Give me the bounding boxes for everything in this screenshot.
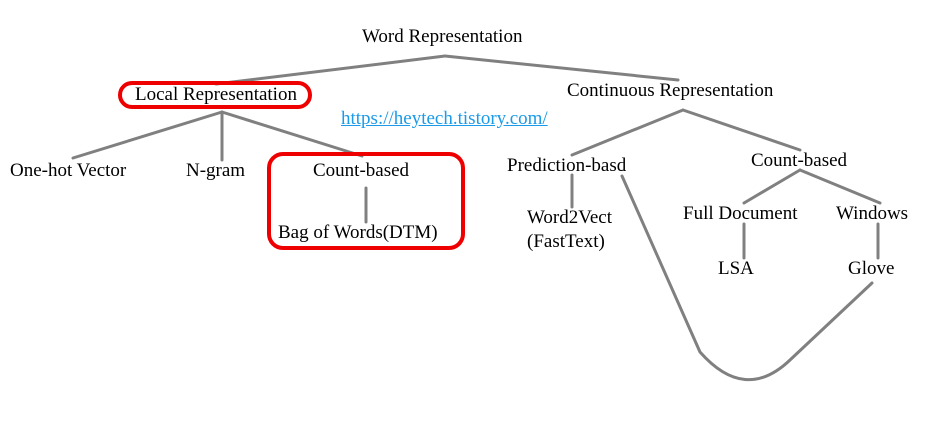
node-label: Full Document bbox=[683, 203, 798, 225]
node-label-line-1: Word2Vect bbox=[527, 206, 612, 230]
node-label: Windows bbox=[836, 203, 908, 225]
node-word-representation: Word Representation bbox=[362, 26, 522, 48]
node-lsa: LSA bbox=[718, 258, 754, 280]
node-label: Glove bbox=[848, 258, 894, 280]
node-n-gram: N-gram bbox=[186, 160, 245, 182]
node-label: N-gram bbox=[186, 160, 245, 182]
blog-url-link[interactable]: https://heytech.tistory.com/ bbox=[341, 108, 548, 130]
edge-continuous-to-countbased bbox=[683, 110, 800, 150]
edge-local-to-onehot bbox=[73, 112, 222, 158]
node-local-representation: Local Representation bbox=[135, 84, 297, 106]
edge-countbased2-to-fulldocument bbox=[744, 170, 800, 203]
node-label: Bag of Words(DTM) bbox=[278, 222, 438, 244]
node-label: Count-based bbox=[313, 160, 409, 182]
node-count-based-local: Count-based bbox=[313, 160, 409, 182]
node-label: Prediction-basd bbox=[507, 155, 626, 177]
diagram-edges bbox=[0, 0, 943, 427]
edge-continuous-to-prediction bbox=[572, 110, 683, 155]
node-label: Count-based bbox=[751, 150, 847, 172]
word-representation-diagram: Word Representation Local Representation… bbox=[0, 0, 943, 427]
edge-word-to-local bbox=[216, 56, 445, 84]
node-label: One-hot Vector bbox=[10, 160, 126, 182]
node-glove: Glove bbox=[848, 258, 894, 280]
edge-countbased2-to-windows bbox=[800, 170, 880, 203]
node-word2vect-fasttext: Word2Vect (FastText) bbox=[527, 206, 612, 254]
node-prediction-based: Prediction-basd bbox=[507, 155, 626, 177]
node-continuous-representation: Continuous Representation bbox=[567, 80, 773, 102]
node-label: Continuous Representation bbox=[567, 80, 773, 102]
node-full-document: Full Document bbox=[683, 203, 798, 225]
edge-word-to-continuous bbox=[445, 56, 678, 80]
node-one-hot-vector: One-hot Vector bbox=[10, 160, 126, 182]
node-bag-of-words: Bag of Words(DTM) bbox=[278, 222, 438, 244]
node-windows: Windows bbox=[836, 203, 908, 225]
node-label: LSA bbox=[718, 258, 754, 280]
node-label-line-2: (FastText) bbox=[527, 230, 612, 254]
node-label: Word Representation bbox=[362, 26, 522, 48]
node-count-based-continuous: Count-based bbox=[751, 150, 847, 172]
node-label: Local Representation bbox=[135, 84, 297, 106]
